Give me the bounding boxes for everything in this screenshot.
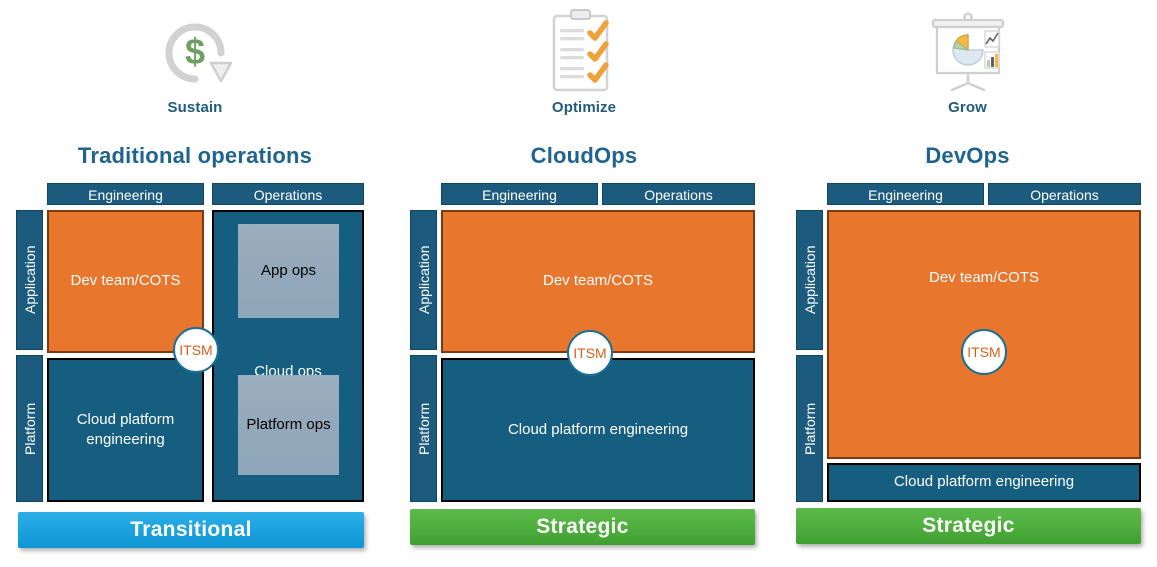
row-header-platform: Platform (16, 355, 43, 502)
itsm-badge: ITSM (173, 327, 219, 373)
row-header-application: Application (796, 210, 823, 350)
phase-label: Grow (778, 99, 1157, 116)
row-header-platform: Platform (796, 355, 823, 502)
row-header-application: Application (410, 210, 437, 350)
status-badge-strategic: Strategic (796, 508, 1141, 544)
column-header-operations: Operations (988, 183, 1141, 205)
column-header-engineering: Engineering (827, 183, 984, 205)
column-header-operations: Operations (602, 183, 755, 205)
page-title: DevOps (778, 143, 1157, 169)
phase-label: Optimize (392, 99, 776, 116)
presentation-chart-icon (778, 6, 1157, 100)
cell-cloud-platform-engineering: Cloud platform engineering (827, 463, 1141, 502)
column-header-operations: Operations (212, 183, 364, 205)
status-badge-transitional: Transitional (18, 512, 364, 548)
matrix-devops: Engineering Operations Application Platf… (796, 180, 1141, 502)
matrix-cloudops: Engineering Operations Application Platf… (410, 180, 755, 502)
row-header-platform: Platform (410, 355, 437, 502)
row-header-application: Application (16, 210, 43, 350)
itsm-badge: ITSM (961, 329, 1007, 375)
panel-cloudops: Optimize CloudOps Engineering Operations… (392, 0, 776, 567)
status-badge-strategic: Strategic (410, 509, 755, 545)
subbox-platform-ops: Platform ops (238, 375, 339, 475)
platform-ops-label: Platform ops (246, 415, 330, 435)
itsm-badge: ITSM (567, 330, 613, 376)
cell-platform-engineering: Cloud platform engineering (47, 358, 204, 502)
panel-devops: Grow DevOps Engineering Operations Appli… (778, 0, 1157, 567)
matrix-traditional: Engineering Operations Application Platf… (16, 180, 364, 502)
svg-text:$: $ (185, 31, 205, 72)
phase-label: Sustain (0, 99, 390, 116)
checklist-clipboard-icon (392, 6, 776, 100)
column-header-engineering: Engineering (441, 183, 598, 205)
page-title: Traditional operations (0, 143, 390, 169)
column-header-engineering: Engineering (47, 183, 204, 205)
panel-traditional-operations: $ Sustain Traditional operations Enginee… (0, 0, 390, 567)
page-title: CloudOps (392, 143, 776, 169)
money-cycle-icon: $ (0, 6, 390, 100)
maturity-model-diagram: $ Sustain Traditional operations Enginee… (0, 0, 1157, 567)
subbox-app-ops: App ops (238, 224, 339, 318)
cell-cloud-platform-engineering: Cloud platform engineering (441, 358, 755, 502)
